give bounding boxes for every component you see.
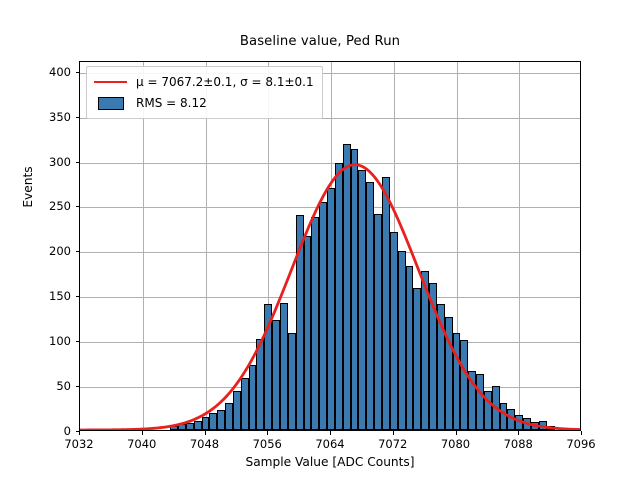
y-tick-mark [76,206,80,207]
legend-item-fit: μ = 7067.2±0.1, σ = 8.1±0.1 [94,72,314,92]
x-tick-label: 7048 [190,437,219,451]
x-tick-mark [456,431,457,435]
x-tick-mark [393,431,394,435]
x-tick-label: 7088 [504,437,533,451]
x-tick-mark [518,431,519,435]
x-tick-label: 7080 [441,437,470,451]
y-tick-label: 400 [49,65,71,79]
x-tick-label: 7040 [127,437,156,451]
x-axis-label: Sample Value [ADC Counts] [79,455,581,469]
y-tick-label: 100 [49,334,71,348]
y-tick-mark [76,296,80,297]
x-tick-mark [330,431,331,435]
x-tick-label: 7032 [64,437,93,451]
y-tick-label: 300 [49,155,71,169]
figure: Baseline value, Ped Run 7032704070487056… [0,0,640,480]
x-tick-mark [79,431,80,435]
x-tick-mark [267,431,268,435]
x-tick-label: 7096 [566,437,595,451]
x-tick-mark [205,431,206,435]
legend-patch-swatch [94,96,127,110]
y-tick-label: 350 [49,110,71,124]
page-title: Baseline value, Ped Run [0,34,640,49]
y-tick-mark [76,386,80,387]
y-tick-label: 250 [49,199,71,213]
legend: μ = 7067.2±0.1, σ = 8.1±0.1 RMS = 8.12 [86,66,323,119]
y-tick-mark [76,251,80,252]
y-tick-mark [76,117,80,118]
legend-item-histogram: RMS = 8.12 [94,93,314,113]
x-tick-label: 7064 [315,437,344,451]
y-axis-label: Events [21,97,35,277]
y-tick-mark [76,162,80,163]
y-tick-mark [76,72,80,73]
y-tick-label: 200 [49,244,71,258]
legend-line-swatch [94,75,127,89]
x-tick-label: 7072 [378,437,407,451]
legend-item-label: RMS = 8.12 [136,96,207,110]
y-tick-label: 0 [64,424,71,438]
x-tick-mark [142,431,143,435]
y-tick-mark [76,431,80,432]
y-tick-mark [76,341,80,342]
legend-item-label: μ = 7067.2±0.1, σ = 8.1±0.1 [136,75,314,89]
x-tick-label: 7056 [253,437,282,451]
x-tick-mark [581,431,582,435]
y-tick-label: 150 [49,289,71,303]
y-tick-label: 50 [56,379,71,393]
